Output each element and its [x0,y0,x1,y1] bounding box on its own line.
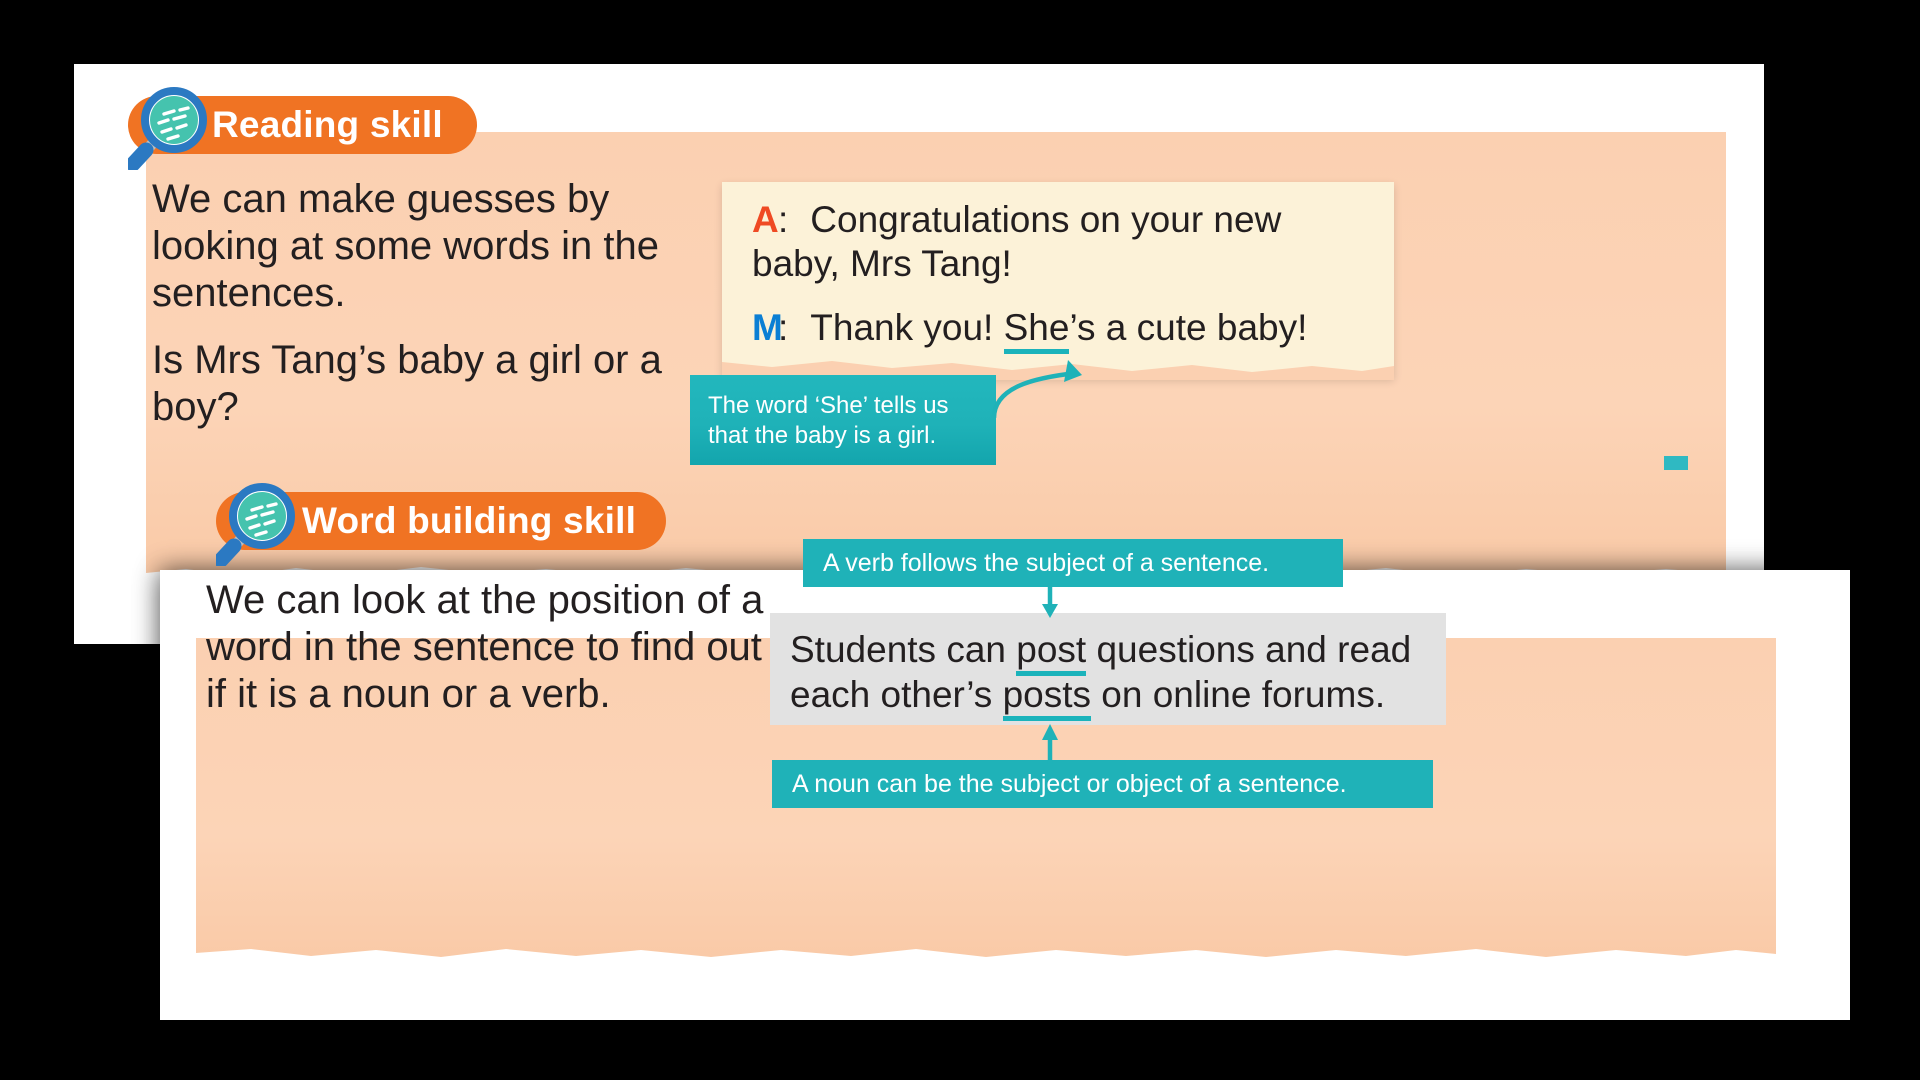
dialogue-text-m-before: Thank you! [810,307,1003,348]
arrow-up-icon [1030,722,1070,764]
example-line1-after: questions and read [1086,629,1411,670]
dialogue-text-a: Congratulations on your new baby, Mrs Ta… [752,199,1281,284]
example-line2-after: on online forums. [1091,674,1385,715]
banner-noun-text: A noun can be the subject or object of a… [792,770,1347,799]
example-underlined-posts: posts [1003,674,1091,721]
example-line1-before: Students can [790,629,1016,670]
banner-verb-text: A verb follows the subject of a sentence… [823,549,1269,578]
callout-she-text: The word ‘She’ tells us that the baby is… [708,392,949,449]
magnifier-icon [216,480,304,566]
speaker-label-a: A [752,198,778,242]
arrow-down-icon [1030,586,1070,618]
badge-reading-skill: Reading skill [128,96,477,154]
page-root: Reading skill We can make guesses by loo… [0,0,1920,1080]
torn-edge-decoration-2 [196,944,1776,970]
word-building-paragraph-1: We can look at the position of a word in… [206,577,766,719]
dialogue-text-m-after: ’s a cute baby! [1069,307,1307,348]
example-sentence-line-2: each other’s posts on online forums. [790,672,1424,717]
dialogue-line-m: M:Thank you! She’s a cute baby! [752,307,1307,349]
reading-paragraph-2: Is Mrs Tang’s baby a girl or a boy? [152,337,692,431]
example-sentence-box: Students can post questions and read eac… [770,613,1446,725]
dialogue-box: A:Congratulations on your new baby, Mrs … [722,182,1394,378]
banner-verb-rule: A verb follows the subject of a sentence… [803,539,1343,587]
dialogue-underlined-she: She [1004,307,1070,354]
reading-paragraph-1: We can make guesses by looking at some w… [152,176,672,318]
example-line2-before: each other’s [790,674,1003,715]
dialogue-line-a: A:Congratulations on your new baby, Mrs … [752,198,1372,287]
badge-word-building-skill: Word building skill [216,492,666,550]
decorative-sliver [1664,456,1688,470]
example-underlined-post: post [1016,629,1086,676]
banner-noun-rule: A noun can be the subject or object of a… [772,760,1433,808]
magnifier-icon [128,84,216,170]
example-sentence-line-1: Students can post questions and read [790,627,1424,672]
callout-she-explanation: The word ‘She’ tells us that the baby is… [690,375,996,465]
curved-arrow-to-she [980,352,1110,424]
speaker-label-m: M [752,307,778,349]
